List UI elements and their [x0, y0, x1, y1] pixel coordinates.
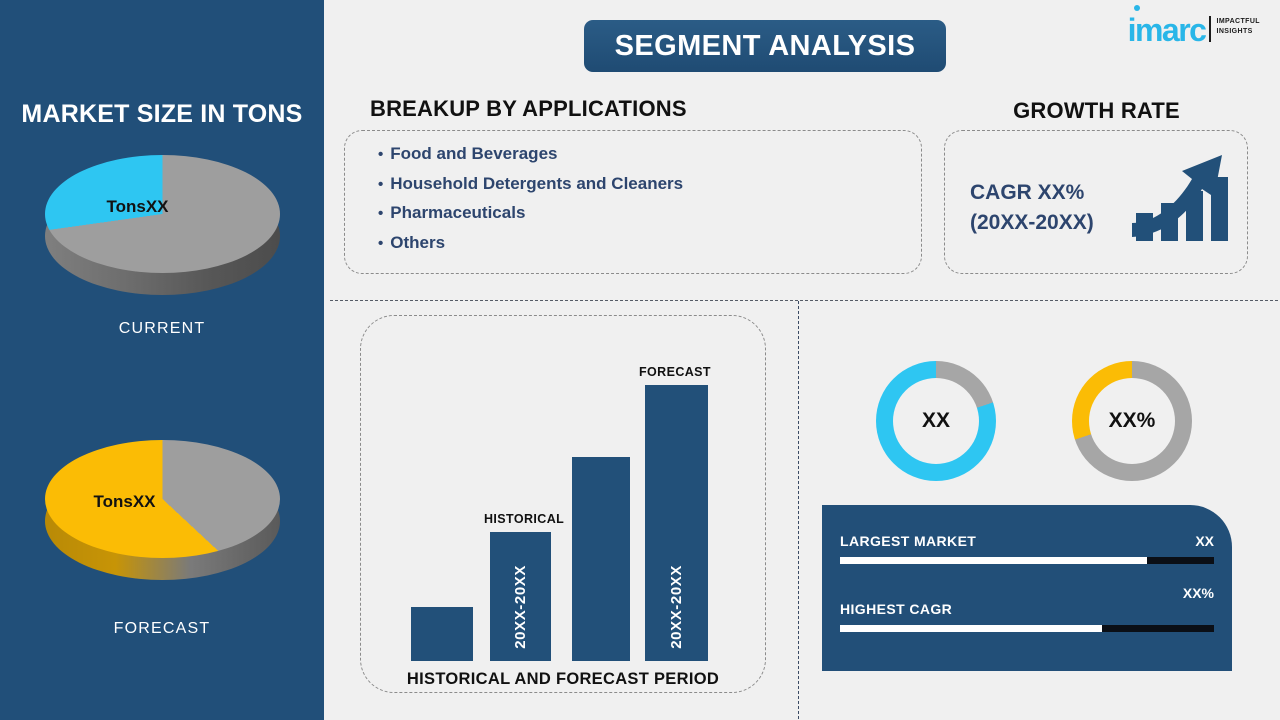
pie-slice-label: TonsXX [107, 197, 169, 217]
stat-label: HIGHEST CAGR [840, 601, 952, 617]
logo-divider [1209, 16, 1211, 42]
stat-progress-fill [840, 557, 1147, 564]
pie-top-surface [45, 440, 280, 558]
cagr-line1: CAGR XX% [970, 178, 1094, 208]
stat-label: LARGEST MARKET [840, 533, 976, 549]
pie-caption-forecast: FORECAST [0, 620, 324, 638]
stat-row-highest-cagr: HIGHEST CAGR XX% [840, 601, 1214, 632]
stat-value: XX [1195, 533, 1214, 549]
cagr-line2: (20XX-20XX) [970, 208, 1094, 238]
application-label: Others [390, 229, 445, 258]
page-title-banner: SEGMENT ANALYSIS [584, 20, 946, 72]
logo-text: imarc [1128, 12, 1206, 48]
bullet-icon: • [378, 200, 383, 229]
imarc-logo: imarc IMPACTFUL INSIGHTS [1128, 14, 1260, 46]
application-list-item: •Pharmaceuticals [378, 199, 683, 229]
current-pie-chart: TonsXX CURRENT [0, 155, 324, 310]
donut-value: XX [922, 409, 950, 433]
bar-annotation: HISTORICAL [484, 512, 564, 526]
growth-arrow-bars-icon [1130, 145, 1228, 245]
bar-1 [411, 607, 473, 661]
pie-caption-current: CURRENT [0, 320, 324, 338]
horizontal-divider [330, 300, 1278, 301]
market-stats-panel: LARGEST MARKET XX HIGHEST CAGR XX% [822, 505, 1232, 671]
applications-list: •Food and Beverages•Household Detergents… [378, 140, 683, 258]
applications-heading: BREAKUP BY APPLICATIONS [370, 96, 687, 122]
bullet-icon: • [378, 230, 383, 259]
logo-tagline-line1: IMPACTFUL [1216, 17, 1260, 27]
bar-annotation: FORECAST [639, 365, 711, 379]
pie-slice-label: TonsXX [94, 492, 156, 512]
bar-3 [572, 457, 630, 661]
forecast-pie-chart: TonsXX FORECAST [0, 440, 324, 595]
application-list-item: •Household Detergents and Cleaners [378, 170, 683, 200]
stat-value: XX% [1183, 585, 1214, 601]
largest-market-donut: XX [876, 361, 996, 481]
stat-progress-track [840, 557, 1214, 564]
application-label: Household Detergents and Cleaners [390, 170, 683, 199]
bar-chart-xlabel: HISTORICAL AND FORECAST PERIOD [360, 670, 766, 689]
historical-forecast-bar-chart: 20XX-20XXHISTORICAL20XX-20XXFORECAST HIS… [360, 315, 766, 693]
stat-row-largest-market: LARGEST MARKET XX [840, 533, 1214, 564]
donut-hole: XX% [1089, 378, 1175, 464]
application-list-item: •Food and Beverages [378, 140, 683, 170]
bullet-icon: • [378, 141, 383, 170]
donut-value: XX% [1109, 409, 1156, 433]
bar-2: 20XX-20XX [490, 532, 551, 661]
bar-period-label: 20XX-20XX [512, 565, 529, 649]
application-list-item: •Others [378, 229, 683, 259]
bullet-icon: • [378, 171, 383, 200]
logo-tagline-line2: INSIGHTS [1216, 27, 1260, 37]
cagr-text: CAGR XX% (20XX-20XX) [970, 178, 1094, 238]
bar-period-label: 20XX-20XX [668, 565, 685, 649]
logo-tagline: IMPACTFUL INSIGHTS [1216, 14, 1260, 37]
application-label: Pharmaceuticals [390, 199, 525, 228]
bar-4: 20XX-20XX [645, 385, 708, 661]
stat-progress-track [840, 625, 1214, 632]
sidebar-title: MARKET SIZE IN TONS [0, 100, 324, 129]
market-size-sidebar: MARKET SIZE IN TONS TonsXX CURRENT TonsX… [0, 0, 324, 720]
stat-progress-fill [840, 625, 1102, 632]
logo-wordmark: imarc [1128, 14, 1206, 46]
donut-hole: XX [893, 378, 979, 464]
growth-rate-heading: GROWTH RATE [944, 98, 1249, 124]
highest-cagr-donut: XX% [1072, 361, 1192, 481]
page-title: SEGMENT ANALYSIS [615, 30, 916, 63]
logo-dot-icon [1134, 5, 1140, 11]
vertical-divider [798, 301, 799, 719]
application-label: Food and Beverages [390, 140, 557, 169]
